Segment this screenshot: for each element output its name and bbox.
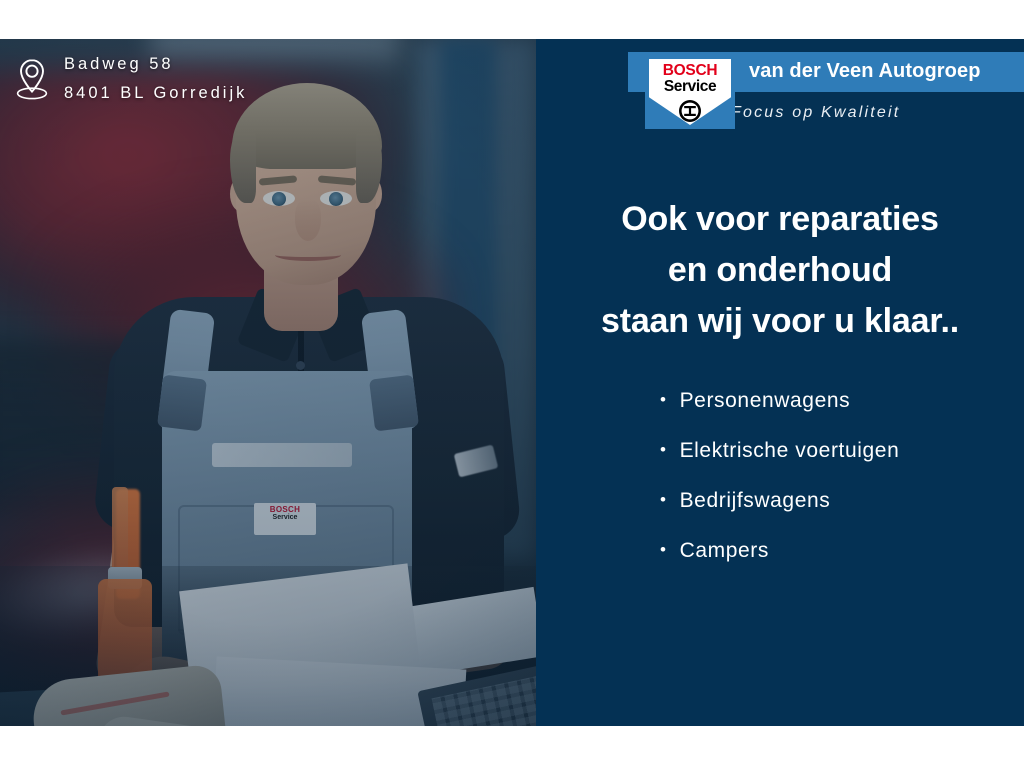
service-label: Campers [680, 539, 769, 563]
bullet-icon: • [660, 441, 667, 458]
strap-buckle-left [157, 375, 207, 432]
service-label: Bedrijfswagens [680, 489, 831, 513]
company-tagline: Focus op Kwaliteit [731, 104, 900, 122]
iris-left [272, 192, 286, 206]
address-line-1: Badweg 58 [64, 50, 247, 79]
address-block: Badweg 58 8401 BL Gorredijk [14, 50, 247, 108]
service-label: Elektrische voertuigen [680, 439, 900, 463]
bosch-uniform-patch: BOSCH Service [254, 503, 316, 535]
list-item: • Elektrische voertuigen [660, 439, 1024, 463]
bosch-service-wordmark: Service [649, 79, 731, 95]
bosch-wordmark: BOSCH [649, 63, 731, 78]
bullet-icon: • [660, 391, 667, 408]
bottle-neck [112, 487, 128, 579]
company-name: van der Veen Autogroep [749, 60, 981, 83]
mechanic-photo: BOSCH Service [0, 39, 536, 726]
name-tag [212, 443, 352, 467]
headline-line-1: Ook voor reparaties [536, 194, 1024, 245]
mouth [275, 249, 341, 261]
shirt-button-top [296, 361, 305, 370]
bosch-armature-icon [678, 99, 702, 123]
list-item: • Bedrijfswagens [660, 489, 1024, 513]
eye-left [263, 191, 295, 206]
eye-right [320, 191, 352, 206]
location-pin-icon [14, 57, 50, 101]
headline: Ook voor reparaties en onderhoud staan w… [536, 194, 1024, 347]
address-line-2: 8401 BL Gorredijk [64, 79, 247, 108]
iris-right [329, 192, 343, 206]
headline-line-3: staan wij voor u klaar.. [536, 296, 1024, 347]
bullet-icon: • [660, 491, 667, 508]
address-text: Badweg 58 8401 BL Gorredijk [64, 50, 247, 108]
patch-bosch-text: BOSCH [254, 506, 316, 514]
bullet-icon: • [660, 541, 667, 558]
patch-service-text: Service [254, 514, 316, 521]
nose [295, 199, 321, 241]
services-list: • Personenwagens • Elektrische voertuige… [660, 389, 1024, 589]
bosch-service-logo: BOSCH Service [645, 55, 735, 129]
service-label: Personenwagens [680, 389, 851, 413]
info-panel: BOSCH Service van der Veen Autogroep Foc… [536, 39, 1024, 726]
strap-buckle-right [369, 375, 419, 432]
list-item: • Campers [660, 539, 1024, 563]
promo-banner: BOSCH Service [0, 39, 1024, 726]
headline-line-2: en onderhoud [536, 245, 1024, 296]
list-item: • Personenwagens [660, 389, 1024, 413]
